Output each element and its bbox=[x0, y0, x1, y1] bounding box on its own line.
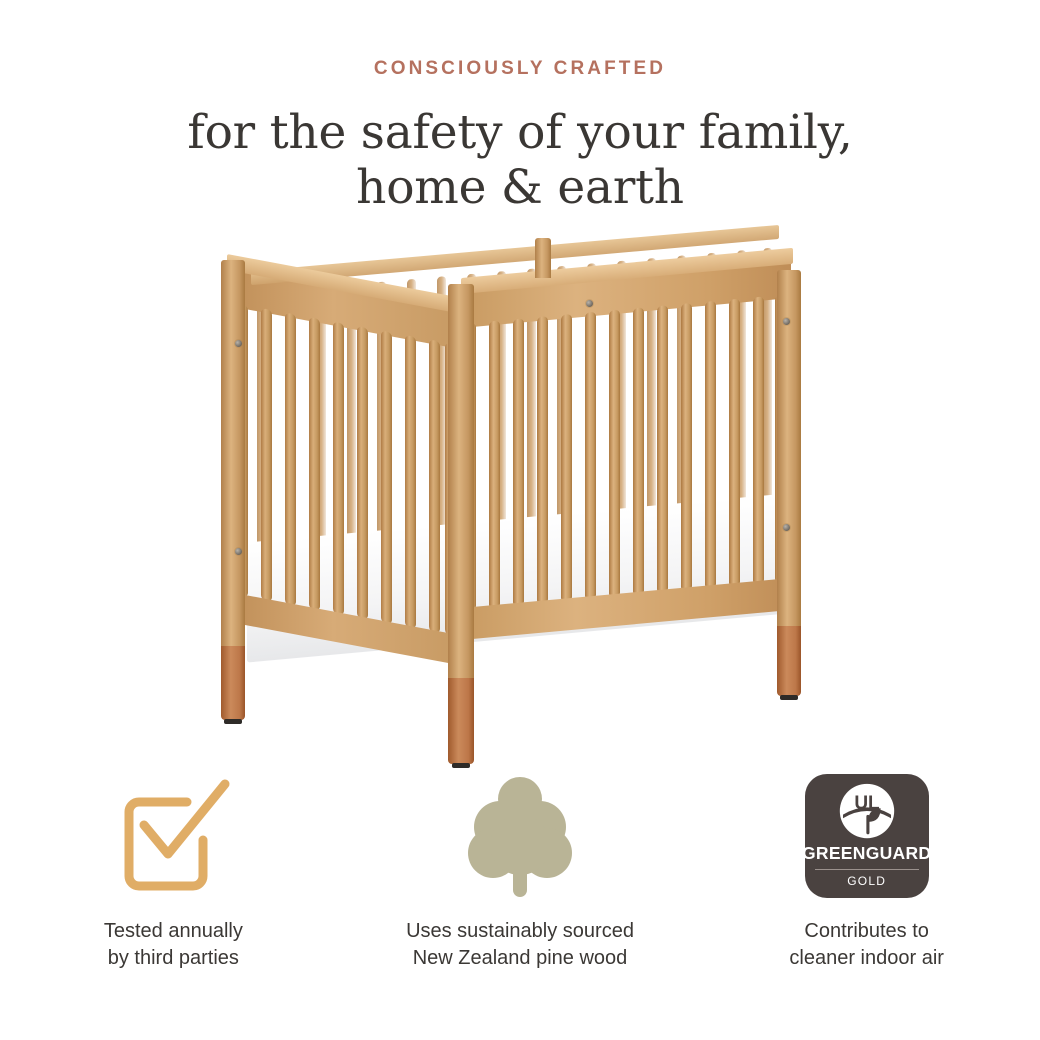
greenguard-divider bbox=[815, 869, 919, 870]
product-image bbox=[0, 232, 1040, 762]
eyebrow-text: CONSCIOUSLY CRAFTED bbox=[0, 58, 1040, 81]
crib-post-back bbox=[535, 238, 551, 278]
crib-screw bbox=[783, 524, 790, 531]
feature-item-indoor-air: UL GREENGUARD GOLD Contributes to cleane… bbox=[693, 772, 1040, 972]
crib-side-panel-right bbox=[461, 256, 791, 686]
feature-item-sustainable-wood: Uses sustainably sourced New Zealand pin… bbox=[347, 772, 694, 972]
feature-caption-line-2: by third parties bbox=[104, 945, 243, 972]
header: CONSCIOUSLY CRAFTED for the safety of yo… bbox=[0, 58, 1040, 215]
crib-slats-left bbox=[235, 303, 457, 637]
page-title: for the safety of your family, home & ea… bbox=[0, 105, 1040, 215]
greenguard-name: GREENGUARD bbox=[802, 843, 931, 864]
greenguard-gold-badge-icon: UL GREENGUARD GOLD bbox=[805, 772, 929, 900]
feature-caption-line-2: cleaner indoor air bbox=[789, 945, 944, 972]
feature-item-tested: Tested annually by third parties bbox=[0, 772, 347, 972]
feature-caption-line-1: Tested annually bbox=[104, 918, 243, 945]
crib-screw bbox=[783, 318, 790, 325]
crib-screw bbox=[235, 548, 242, 555]
checkbox-check-icon bbox=[109, 772, 237, 900]
feature-caption-line-1: Uses sustainably sourced bbox=[406, 918, 634, 945]
feature-caption-line-2: New Zealand pine wood bbox=[406, 945, 634, 972]
crib-leg-rear-right bbox=[777, 270, 801, 696]
crib-leg-rear-left bbox=[221, 260, 245, 720]
feature-caption-sustainable-wood: Uses sustainably sourced New Zealand pin… bbox=[406, 918, 634, 972]
crib-leg-front-corner bbox=[448, 284, 474, 764]
crib-side-panel-left bbox=[229, 262, 461, 705]
crib-screw bbox=[235, 340, 242, 347]
headline-line-1: for the safety of your family, bbox=[0, 105, 1040, 160]
crib-slats-right bbox=[465, 294, 787, 611]
feature-caption-line-1: Contributes to bbox=[789, 918, 944, 945]
feature-caption-indoor-air: Contributes to cleaner indoor air bbox=[789, 918, 944, 972]
crib-illustration bbox=[205, 232, 825, 762]
feature-caption-tested: Tested annually by third parties bbox=[104, 918, 243, 972]
ul-leaf-icon: UL bbox=[838, 782, 896, 840]
headline-line-2: home & earth bbox=[0, 160, 1040, 215]
tree-icon bbox=[460, 772, 580, 900]
promo-page: CONSCIOUSLY CRAFTED for the safety of yo… bbox=[0, 0, 1040, 1040]
greenguard-tier: GOLD bbox=[847, 874, 886, 888]
feature-list: Tested annually by third parties bbox=[0, 772, 1040, 972]
crib-screw bbox=[586, 300, 593, 307]
greenguard-badge: UL GREENGUARD GOLD bbox=[805, 774, 929, 898]
